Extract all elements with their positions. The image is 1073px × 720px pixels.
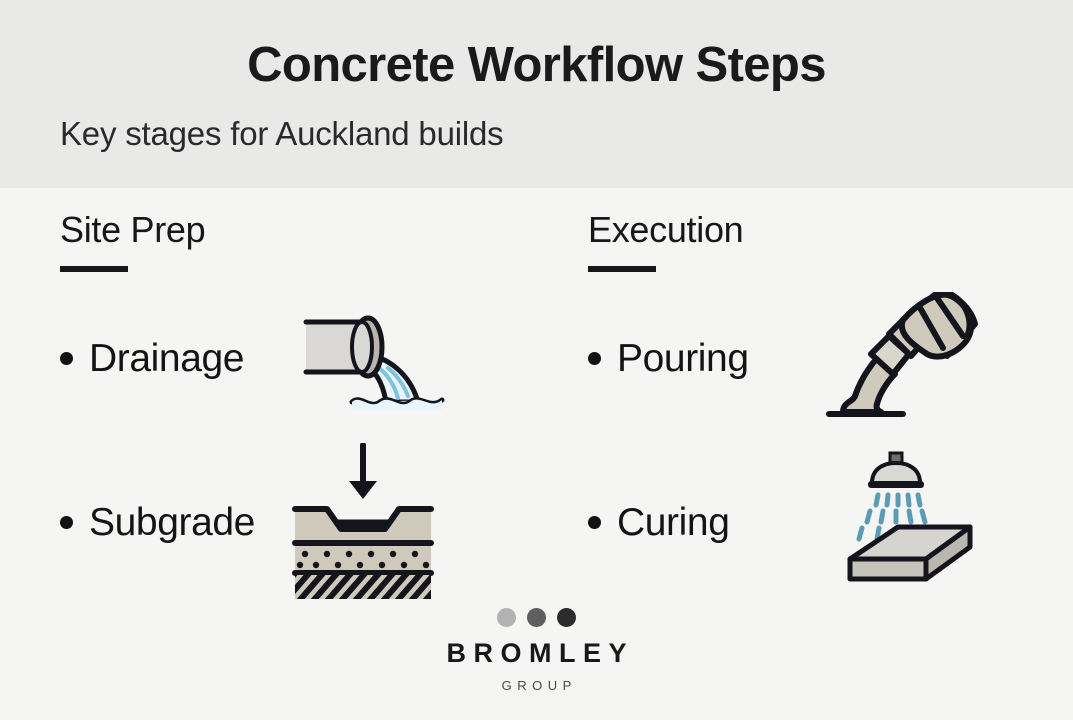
list-item-drainage: Drainage (60, 308, 540, 408)
page-title: Concrete Workflow Steps (0, 38, 1073, 93)
drainage-pipe-icon (302, 302, 454, 414)
bullet-pouring: Pouring (588, 339, 749, 378)
page-subtitle: Key stages for Auckland builds (60, 114, 503, 154)
bullet-dot-icon (60, 516, 73, 529)
column-site-prep: Site Prep (60, 210, 560, 272)
bullet-drainage: Drainage (60, 339, 244, 378)
logo-dots (497, 608, 576, 627)
concrete-mixer-pour-icon (823, 292, 983, 424)
logo-dot-1 (497, 608, 516, 627)
infographic-canvas: Concrete Workflow Steps Key stages for A… (0, 0, 1073, 720)
column-heading-site-prep: Site Prep (60, 210, 560, 250)
list-item-subgrade: Subgrade (60, 470, 540, 574)
column-heading-execution: Execution (588, 210, 1068, 250)
heading-rule-execution (588, 266, 656, 272)
heading-rule-site-prep (60, 266, 128, 272)
logo-dot-3 (557, 608, 576, 627)
logo-dot-2 (527, 608, 546, 627)
bullet-label-subgrade: Subgrade (89, 503, 255, 542)
bullet-label-curing: Curing (617, 503, 730, 542)
bullet-dot-icon (588, 352, 601, 365)
logo-subtext: GROUP (496, 679, 577, 692)
subgrade-layers-icon (287, 443, 439, 601)
logo-wordmark: BROMLEY (439, 640, 634, 667)
bullet-curing: Curing (588, 503, 730, 542)
bullet-label-drainage: Drainage (89, 339, 244, 378)
list-item-curing: Curing (588, 470, 1048, 574)
bullet-label-pouring: Pouring (617, 339, 749, 378)
list-item-pouring: Pouring (588, 308, 1048, 408)
bullet-subgrade: Subgrade (60, 503, 255, 542)
column-execution: Execution (588, 210, 1068, 272)
header-band (0, 0, 1073, 188)
bullet-dot-icon (60, 352, 73, 365)
shower-slab-curing-icon (816, 451, 976, 593)
footer-logo: BROMLEY GROUP (0, 608, 1073, 692)
bullet-dot-icon (588, 516, 601, 529)
